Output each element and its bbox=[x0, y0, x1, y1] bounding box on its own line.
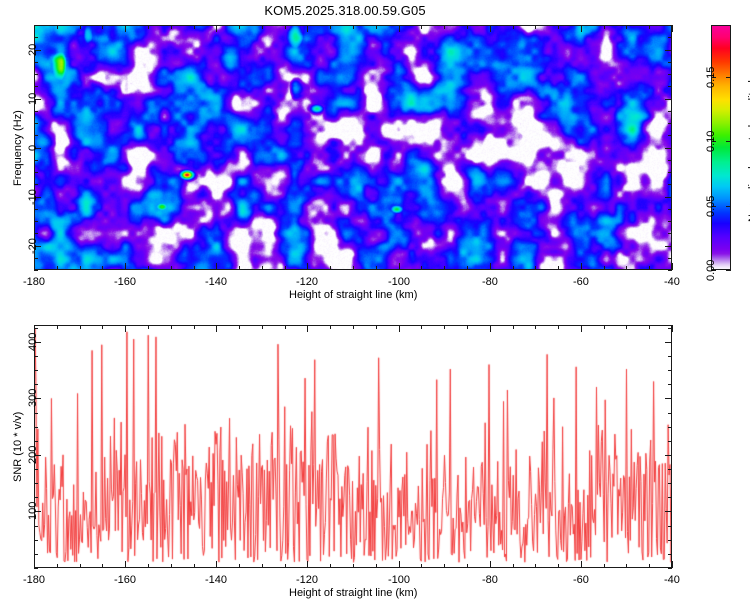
axis-tick bbox=[668, 62, 672, 63]
axis-tick-label: -180 bbox=[23, 574, 45, 586]
axis-tick bbox=[262, 564, 263, 568]
axis-tick-label: -20 bbox=[27, 238, 39, 254]
axis-tick bbox=[668, 497, 672, 498]
axis-tick bbox=[34, 184, 38, 185]
axis-tick-label: 0.10 bbox=[705, 130, 717, 151]
axis-tick bbox=[665, 99, 672, 100]
axis-tick bbox=[726, 77, 731, 78]
axis-tick bbox=[513, 25, 514, 29]
axis-tick bbox=[649, 564, 650, 568]
axis-tick bbox=[216, 25, 217, 32]
axis-tick bbox=[668, 37, 672, 38]
axis-tick-label: -120 bbox=[296, 574, 318, 586]
axis-tick bbox=[353, 266, 354, 270]
axis-tick bbox=[668, 526, 672, 527]
axis-tick bbox=[34, 561, 35, 568]
axis-tick bbox=[34, 413, 38, 414]
axis-tick bbox=[34, 568, 38, 569]
axis-tick bbox=[668, 160, 672, 161]
axis-tick bbox=[535, 564, 536, 568]
axis-tick bbox=[330, 325, 331, 329]
axis-tick-label: -160 bbox=[114, 574, 136, 586]
axis-tick-label: -140 bbox=[205, 276, 227, 288]
axis-tick bbox=[34, 370, 38, 371]
axis-tick bbox=[668, 258, 672, 259]
axis-tick bbox=[34, 469, 38, 470]
axis-tick bbox=[665, 511, 672, 512]
axis-tick bbox=[194, 25, 195, 29]
axis-tick-label: -120 bbox=[296, 276, 318, 288]
axis-tick-label: 100 bbox=[27, 502, 39, 520]
axis-tick bbox=[34, 258, 38, 259]
axis-tick bbox=[467, 266, 468, 270]
axis-tick bbox=[34, 356, 38, 357]
axis-tick-label: 20 bbox=[27, 44, 39, 56]
axis-tick bbox=[376, 25, 377, 29]
axis-tick bbox=[102, 564, 103, 568]
axis-tick bbox=[668, 184, 672, 185]
axis-tick bbox=[34, 427, 38, 428]
axis-tick bbox=[490, 25, 491, 32]
axis-tick bbox=[668, 86, 672, 87]
axis-tick bbox=[626, 25, 627, 29]
axis-tick bbox=[125, 25, 126, 32]
axis-tick bbox=[376, 325, 377, 329]
figure-root: KOM5.2025.318.00.59.G05 -180-160-140-120… bbox=[0, 0, 750, 600]
axis-tick bbox=[668, 209, 672, 210]
axis-tick bbox=[148, 325, 149, 329]
axis-tick bbox=[171, 325, 172, 329]
axis-tick bbox=[34, 270, 38, 271]
axis-tick bbox=[626, 266, 627, 270]
snr-ylabel: SNR (10 * v/v) bbox=[12, 411, 24, 481]
axis-tick-label: -80 bbox=[482, 574, 498, 586]
axis-tick bbox=[399, 325, 400, 332]
axis-tick bbox=[80, 325, 81, 329]
axis-tick bbox=[513, 266, 514, 270]
axis-tick bbox=[558, 325, 559, 329]
axis-tick bbox=[307, 325, 308, 332]
axis-tick bbox=[421, 564, 422, 568]
axis-tick bbox=[513, 325, 514, 329]
axis-tick bbox=[668, 370, 672, 371]
snr-xlabel: Height of straight line (km) bbox=[289, 587, 417, 599]
axis-tick bbox=[668, 540, 672, 541]
axis-tick bbox=[668, 356, 672, 357]
axis-tick bbox=[34, 160, 38, 161]
axis-tick bbox=[490, 561, 491, 568]
axis-tick bbox=[726, 270, 731, 271]
axis-tick bbox=[513, 564, 514, 568]
axis-tick-label: -60 bbox=[573, 574, 589, 586]
axis-tick-label: 400 bbox=[27, 333, 39, 351]
axis-tick bbox=[665, 50, 672, 51]
axis-tick bbox=[34, 384, 38, 385]
axis-tick bbox=[649, 325, 650, 329]
axis-tick bbox=[467, 564, 468, 568]
axis-tick bbox=[668, 123, 672, 124]
axis-tick bbox=[668, 328, 672, 329]
axis-tick bbox=[376, 564, 377, 568]
axis-tick bbox=[665, 455, 672, 456]
axis-tick-label: -60 bbox=[573, 276, 589, 288]
axis-tick bbox=[581, 325, 582, 332]
axis-tick bbox=[34, 540, 38, 541]
axis-tick bbox=[467, 25, 468, 29]
axis-tick bbox=[216, 325, 217, 332]
axis-tick bbox=[535, 25, 536, 29]
axis-tick bbox=[148, 25, 149, 29]
axis-tick bbox=[490, 325, 491, 332]
axis-tick bbox=[171, 266, 172, 270]
axis-tick bbox=[102, 325, 103, 329]
axis-tick bbox=[34, 233, 38, 234]
axis-tick bbox=[626, 564, 627, 568]
axis-tick bbox=[34, 441, 38, 442]
axis-tick bbox=[216, 561, 217, 568]
axis-tick bbox=[330, 25, 331, 29]
axis-tick bbox=[353, 564, 354, 568]
axis-tick-label: -100 bbox=[388, 276, 410, 288]
axis-tick bbox=[330, 266, 331, 270]
axis-tick bbox=[376, 266, 377, 270]
axis-tick bbox=[34, 37, 38, 38]
spectrogram-xlabel: Height of straight line (km) bbox=[289, 289, 417, 301]
axis-tick bbox=[34, 25, 35, 32]
axis-tick bbox=[672, 25, 673, 32]
axis-tick bbox=[535, 325, 536, 329]
axis-tick bbox=[125, 561, 126, 568]
axis-tick bbox=[604, 325, 605, 329]
axis-tick bbox=[34, 221, 38, 222]
axis-tick bbox=[604, 266, 605, 270]
axis-tick bbox=[307, 561, 308, 568]
axis-tick bbox=[444, 25, 445, 29]
axis-tick bbox=[668, 25, 672, 26]
axis-tick bbox=[307, 263, 308, 270]
snr-trace-line bbox=[34, 325, 672, 568]
axis-tick bbox=[262, 325, 263, 329]
axis-tick-label: -180 bbox=[23, 276, 45, 288]
axis-tick bbox=[665, 342, 672, 343]
axis-tick bbox=[34, 62, 38, 63]
axis-tick bbox=[80, 564, 81, 568]
axis-tick-label: 0.00 bbox=[705, 259, 717, 280]
axis-tick bbox=[80, 266, 81, 270]
axis-tick bbox=[34, 135, 38, 136]
axis-tick bbox=[626, 325, 627, 329]
axis-tick-label: 10 bbox=[27, 93, 39, 105]
axis-tick bbox=[649, 266, 650, 270]
axis-tick bbox=[421, 25, 422, 29]
axis-tick-label: 0.05 bbox=[705, 195, 717, 216]
axis-tick bbox=[668, 384, 672, 385]
axis-tick bbox=[171, 25, 172, 29]
axis-tick bbox=[672, 325, 673, 332]
axis-tick-label: -80 bbox=[482, 276, 498, 288]
axis-tick-label: -160 bbox=[114, 276, 136, 288]
axis-tick bbox=[285, 25, 286, 29]
axis-tick bbox=[34, 328, 38, 329]
axis-tick bbox=[581, 263, 582, 270]
axis-tick bbox=[34, 172, 38, 173]
axis-tick bbox=[558, 266, 559, 270]
axis-tick bbox=[444, 325, 445, 329]
axis-tick bbox=[535, 266, 536, 270]
axis-tick bbox=[194, 266, 195, 270]
axis-tick bbox=[668, 135, 672, 136]
axis-tick bbox=[668, 74, 672, 75]
axis-tick bbox=[649, 25, 650, 29]
axis-tick bbox=[726, 141, 731, 142]
axis-tick bbox=[399, 561, 400, 568]
axis-tick bbox=[490, 263, 491, 270]
axis-tick bbox=[57, 25, 58, 29]
axis-tick bbox=[34, 74, 38, 75]
axis-tick bbox=[80, 25, 81, 29]
axis-tick bbox=[239, 564, 240, 568]
axis-tick-label: 200 bbox=[27, 446, 39, 464]
axis-tick bbox=[34, 123, 38, 124]
snr-plot-area bbox=[34, 325, 672, 568]
axis-tick bbox=[171, 564, 172, 568]
axis-tick bbox=[668, 413, 672, 414]
axis-tick bbox=[668, 233, 672, 234]
axis-tick bbox=[668, 172, 672, 173]
axis-tick bbox=[34, 111, 38, 112]
axis-tick bbox=[262, 266, 263, 270]
axis-tick bbox=[148, 266, 149, 270]
axis-tick bbox=[353, 25, 354, 29]
axis-tick bbox=[239, 266, 240, 270]
axis-tick bbox=[34, 554, 38, 555]
axis-tick bbox=[665, 246, 672, 247]
spectrogram-ylabel: Frequency (Hz) bbox=[12, 110, 24, 186]
axis-tick-label: -40 bbox=[664, 574, 680, 586]
axis-tick bbox=[57, 325, 58, 329]
axis-tick bbox=[444, 266, 445, 270]
axis-tick-label: 300 bbox=[27, 389, 39, 407]
axis-tick-label: -100 bbox=[388, 574, 410, 586]
axis-tick-label: -10 bbox=[27, 189, 39, 205]
axis-tick bbox=[399, 25, 400, 32]
axis-tick bbox=[34, 526, 38, 527]
axis-tick bbox=[125, 263, 126, 270]
page-title: KOM5.2025.318.00.59.G05 bbox=[0, 3, 690, 18]
axis-tick bbox=[665, 197, 672, 198]
axis-tick bbox=[285, 564, 286, 568]
axis-tick bbox=[353, 325, 354, 329]
axis-tick bbox=[668, 111, 672, 112]
axis-tick bbox=[604, 564, 605, 568]
axis-tick bbox=[194, 325, 195, 329]
axis-tick bbox=[668, 221, 672, 222]
axis-tick bbox=[262, 25, 263, 29]
axis-tick bbox=[148, 564, 149, 568]
axis-tick bbox=[34, 483, 38, 484]
axis-tick bbox=[421, 325, 422, 329]
axis-tick bbox=[668, 270, 672, 271]
axis-tick-label: 0 bbox=[27, 145, 39, 151]
axis-tick-label: -40 bbox=[664, 276, 680, 288]
axis-tick bbox=[672, 561, 673, 568]
spectrogram-image bbox=[34, 25, 672, 270]
axis-tick bbox=[34, 263, 35, 270]
axis-tick bbox=[34, 497, 38, 498]
axis-tick bbox=[34, 86, 38, 87]
axis-tick bbox=[726, 206, 731, 207]
axis-tick bbox=[102, 25, 103, 29]
axis-tick bbox=[668, 483, 672, 484]
axis-tick bbox=[467, 325, 468, 329]
axis-tick bbox=[34, 25, 38, 26]
axis-tick-label: 0.15 bbox=[705, 66, 717, 87]
axis-tick bbox=[239, 25, 240, 29]
axis-tick bbox=[285, 325, 286, 329]
axis-tick bbox=[34, 209, 38, 210]
axis-tick bbox=[581, 25, 582, 32]
axis-tick bbox=[581, 561, 582, 568]
axis-tick bbox=[239, 325, 240, 329]
axis-tick bbox=[665, 398, 672, 399]
axis-tick bbox=[668, 441, 672, 442]
axis-tick bbox=[668, 554, 672, 555]
axis-tick bbox=[216, 263, 217, 270]
axis-tick bbox=[57, 564, 58, 568]
axis-tick-label: -140 bbox=[205, 574, 227, 586]
axis-tick bbox=[421, 266, 422, 270]
spectrogram-plot-area bbox=[34, 25, 672, 270]
axis-tick bbox=[330, 564, 331, 568]
axis-tick bbox=[307, 25, 308, 32]
axis-tick bbox=[604, 25, 605, 29]
axis-tick bbox=[668, 568, 672, 569]
axis-tick bbox=[125, 325, 126, 332]
axis-tick bbox=[285, 266, 286, 270]
axis-tick bbox=[668, 469, 672, 470]
axis-tick bbox=[558, 564, 559, 568]
axis-tick bbox=[444, 564, 445, 568]
axis-tick bbox=[672, 263, 673, 270]
axis-tick bbox=[194, 564, 195, 568]
axis-tick bbox=[399, 263, 400, 270]
axis-tick bbox=[57, 266, 58, 270]
axis-tick bbox=[558, 25, 559, 29]
axis-tick bbox=[668, 427, 672, 428]
axis-tick bbox=[665, 148, 672, 149]
axis-tick bbox=[102, 266, 103, 270]
